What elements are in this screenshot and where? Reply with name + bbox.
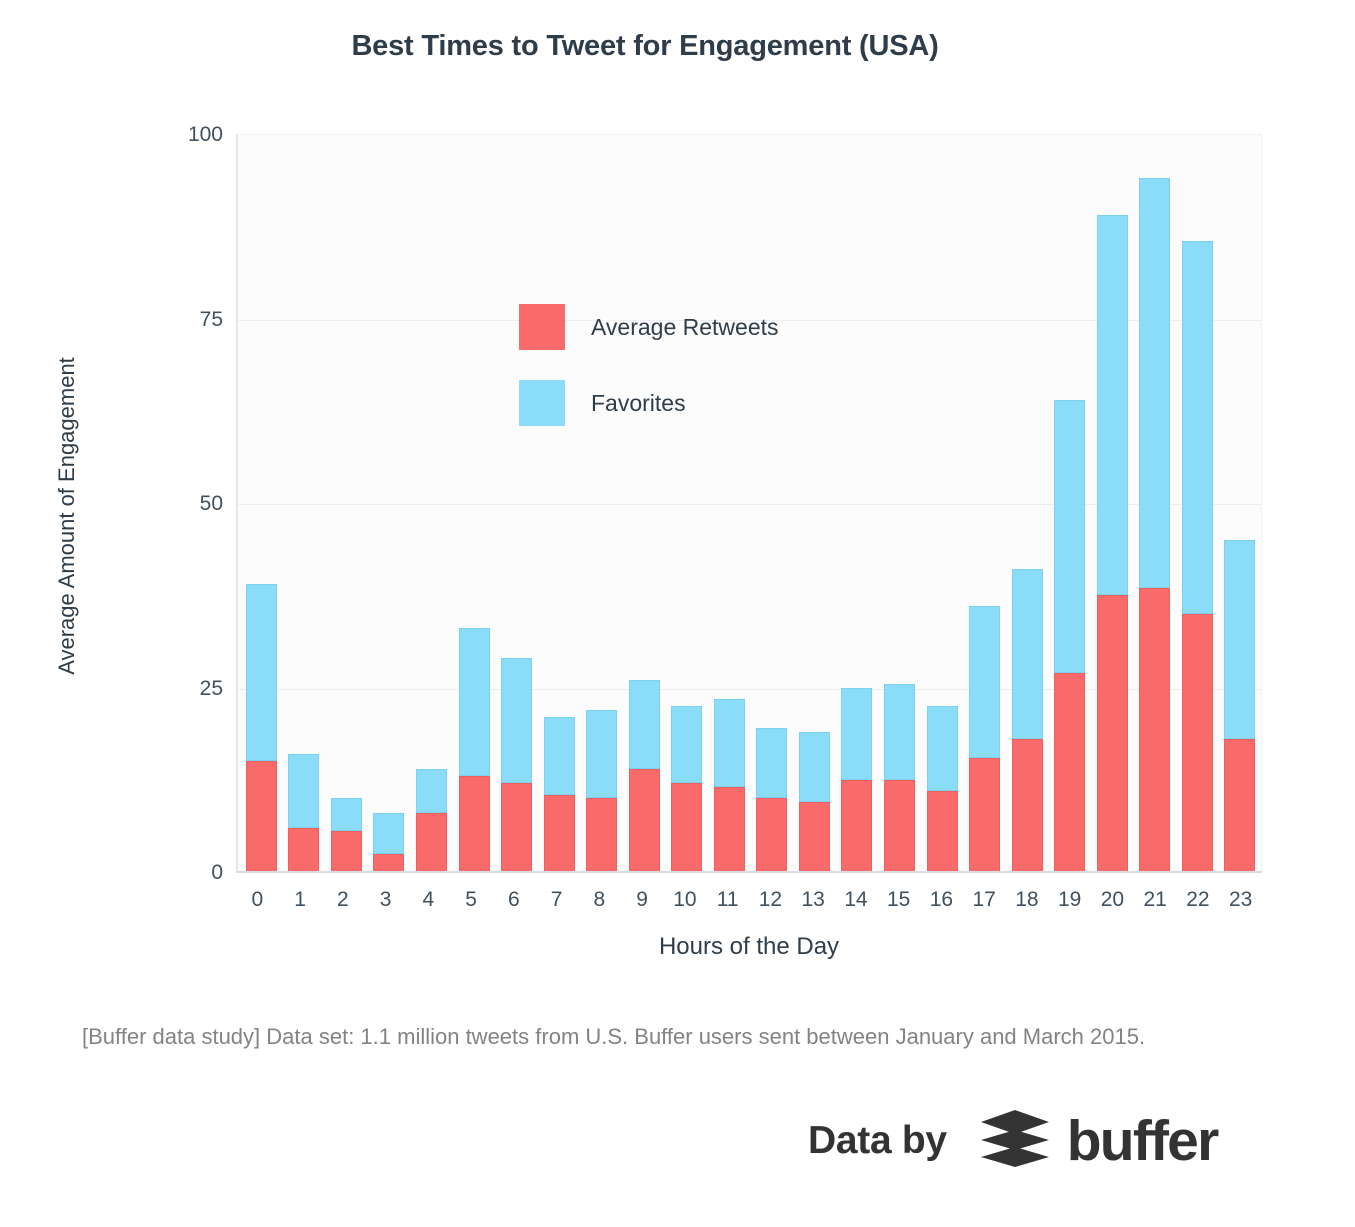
- bar-slot: [1091, 135, 1134, 872]
- x-axis-tick-label: 11: [706, 888, 749, 918]
- legend-swatch-retweets: [519, 304, 565, 350]
- bar-segment-favorites[interactable]: [373, 813, 404, 854]
- bar-segment-retweets[interactable]: [1224, 739, 1255, 872]
- bar-segment-favorites[interactable]: [416, 769, 447, 813]
- y-axis-tick-label: 100: [143, 123, 223, 147]
- bar-segment-retweets[interactable]: [756, 798, 787, 872]
- x-axis-tick-label: 22: [1177, 888, 1220, 918]
- bar-segment-retweets[interactable]: [1097, 595, 1128, 872]
- bar-slot: [793, 135, 836, 872]
- bar-segment-favorites[interactable]: [501, 658, 532, 783]
- x-axis-tick-label: 13: [792, 888, 835, 918]
- buffer-layers-icon: [981, 1110, 1049, 1175]
- buffer-wordmark: buffer: [1067, 1113, 1218, 1170]
- x-axis-line: [236, 871, 1262, 873]
- chart-legend: Average RetweetsFavorites: [519, 301, 779, 453]
- bar-segment-favorites[interactable]: [884, 684, 915, 780]
- bar-segment-retweets[interactable]: [1012, 739, 1043, 872]
- x-axis-tick-label: 5: [450, 888, 493, 918]
- bar-slot: [1133, 135, 1176, 872]
- stacked-bar[interactable]: [629, 680, 660, 872]
- x-axis-tick-label: 19: [1048, 888, 1091, 918]
- bar-slot: [623, 135, 666, 872]
- bar-slot: [878, 135, 921, 872]
- bar-segment-retweets[interactable]: [459, 776, 490, 872]
- stacked-bar[interactable]: [1139, 178, 1170, 872]
- stacked-bar[interactable]: [544, 717, 575, 872]
- bar-segment-retweets[interactable]: [331, 831, 362, 872]
- x-axis-tick-label: 6: [493, 888, 536, 918]
- x-axis-tick-label: 7: [535, 888, 578, 918]
- legend-item[interactable]: Average Retweets: [519, 301, 779, 353]
- bar-slot: [836, 135, 879, 872]
- stacked-bar[interactable]: [288, 754, 319, 872]
- stacked-bar[interactable]: [331, 798, 362, 872]
- bar-slot: [580, 135, 623, 872]
- stacked-bar[interactable]: [1012, 569, 1043, 872]
- y-axis-tick-label: 0: [143, 861, 223, 885]
- stacked-bar[interactable]: [841, 688, 872, 873]
- bar-segment-retweets[interactable]: [416, 813, 447, 872]
- bar-slot: [751, 135, 794, 872]
- bar-segment-retweets[interactable]: [671, 783, 702, 872]
- bar-segment-favorites[interactable]: [1097, 215, 1128, 595]
- stacked-bar[interactable]: [1097, 215, 1128, 872]
- bar-segment-favorites[interactable]: [969, 606, 1000, 757]
- bar-slot: [1048, 135, 1091, 872]
- stacked-bar[interactable]: [1224, 540, 1255, 872]
- data-by-label: Data by: [808, 1119, 947, 1163]
- x-axis-tick-label: 4: [407, 888, 450, 918]
- x-axis-tick-label: 2: [322, 888, 365, 918]
- bar-slot: [921, 135, 964, 872]
- bar-slot: [1219, 135, 1262, 872]
- bar-segment-favorites[interactable]: [799, 732, 830, 802]
- y-axis-title: Average Amount of Engagement: [54, 306, 80, 726]
- bar-segment-favorites[interactable]: [1224, 540, 1255, 739]
- chart-title: Best Times to Tweet for Engagement (USA): [0, 30, 1290, 63]
- stacked-bar[interactable]: [884, 684, 915, 872]
- bar-segment-favorites[interactable]: [1054, 400, 1085, 673]
- x-axis-title: Hours of the Day: [236, 933, 1262, 961]
- bar-segment-retweets[interactable]: [544, 795, 575, 872]
- bar-slot: [708, 135, 751, 872]
- bar-slot: [665, 135, 708, 872]
- stacked-bar[interactable]: [671, 706, 702, 872]
- x-axis-tick-label: 8: [578, 888, 621, 918]
- legend-swatch-favorites: [519, 380, 565, 426]
- stacked-bar[interactable]: [927, 706, 958, 872]
- bar-slot: [538, 135, 581, 872]
- bar-segment-retweets[interactable]: [586, 798, 617, 872]
- bar-segment-retweets[interactable]: [1182, 614, 1213, 872]
- bar-segment-retweets[interactable]: [841, 780, 872, 872]
- stacked-bar[interactable]: [416, 769, 447, 872]
- bar-slot: [283, 135, 326, 872]
- bar-segment-retweets[interactable]: [288, 828, 319, 872]
- bar-slot: [963, 135, 1006, 872]
- bar-slot: [240, 135, 283, 872]
- bar-segment-retweets[interactable]: [246, 761, 277, 872]
- plot-area: Average RetweetsFavorites: [236, 134, 1262, 872]
- x-axis-tick-label: 23: [1219, 888, 1262, 918]
- stacked-bar[interactable]: [501, 658, 532, 872]
- bar-segment-retweets[interactable]: [501, 783, 532, 872]
- legend-item[interactable]: Favorites: [519, 377, 779, 429]
- x-axis-tick-label: 9: [621, 888, 664, 918]
- bar-slot: [410, 135, 453, 872]
- stacked-bar[interactable]: [714, 699, 745, 872]
- bar-slot: [325, 135, 368, 872]
- bar-segment-favorites[interactable]: [246, 584, 277, 761]
- x-axis-tick-label: 17: [963, 888, 1006, 918]
- bar-segment-retweets[interactable]: [1054, 673, 1085, 872]
- bar-segment-retweets[interactable]: [714, 787, 745, 872]
- legend-item-label: Favorites: [591, 390, 686, 417]
- bar-segment-favorites[interactable]: [841, 688, 872, 780]
- bar-series-container: [240, 135, 1261, 872]
- bar-slot: [1176, 135, 1219, 872]
- stacked-bar[interactable]: [373, 813, 404, 872]
- bar-segment-favorites[interactable]: [756, 728, 787, 798]
- bar-segment-retweets[interactable]: [969, 758, 1000, 872]
- x-axis-tick-label: 16: [920, 888, 963, 918]
- bar-slot: [368, 135, 411, 872]
- x-axis-tick-label: 0: [236, 888, 279, 918]
- stacked-bar[interactable]: [246, 584, 277, 872]
- y-axis-tick-label: 75: [143, 308, 223, 332]
- x-axis-tick-label: 3: [364, 888, 407, 918]
- y-axis-tick-label: 25: [143, 677, 223, 701]
- bar-segment-retweets[interactable]: [927, 791, 958, 872]
- chart-page: Best Times to Tweet for Engagement (USA)…: [0, 0, 1355, 1227]
- stacked-bar[interactable]: [799, 732, 830, 872]
- stacked-bar[interactable]: [1054, 400, 1085, 872]
- footer-brand: Data by buffer: [808, 1107, 1217, 1175]
- x-axis-tick-label: 12: [749, 888, 792, 918]
- x-axis-tick-label: 14: [835, 888, 878, 918]
- bar-segment-favorites[interactable]: [714, 699, 745, 788]
- bar-slot: [1006, 135, 1049, 872]
- bar-segment-favorites[interactable]: [459, 628, 490, 776]
- bar-segment-favorites[interactable]: [331, 798, 362, 831]
- x-axis-tick-labels: 01234567891011121314151617181920212223: [236, 888, 1262, 918]
- bar-segment-retweets[interactable]: [799, 802, 830, 872]
- bar-segment-retweets[interactable]: [884, 780, 915, 872]
- bar-segment-favorites[interactable]: [1182, 241, 1213, 614]
- bar-segment-favorites[interactable]: [1139, 178, 1170, 588]
- x-axis-tick-label: 15: [877, 888, 920, 918]
- x-axis-tick-label: 18: [1006, 888, 1049, 918]
- bar-segment-favorites[interactable]: [1012, 569, 1043, 739]
- stacked-bar[interactable]: [459, 628, 490, 872]
- bar-segment-favorites[interactable]: [671, 706, 702, 783]
- legend-item-label: Average Retweets: [591, 314, 779, 341]
- stacked-bar[interactable]: [756, 728, 787, 872]
- source-caption: [Buffer data study] Data set: 1.1 millio…: [82, 1020, 1242, 1054]
- bar-segment-favorites[interactable]: [927, 706, 958, 791]
- bar-segment-retweets[interactable]: [629, 769, 660, 872]
- x-axis-tick-label: 10: [664, 888, 707, 918]
- bar-segment-favorites[interactable]: [629, 680, 660, 769]
- stacked-bar[interactable]: [1182, 241, 1213, 872]
- bar-segment-retweets[interactable]: [1139, 588, 1170, 872]
- bar-segment-favorites[interactable]: [586, 710, 617, 799]
- bar-segment-favorites[interactable]: [544, 717, 575, 794]
- bar-slot: [453, 135, 496, 872]
- x-axis-tick-label: 21: [1134, 888, 1177, 918]
- stacked-bar[interactable]: [969, 606, 1000, 872]
- bar-segment-favorites[interactable]: [288, 754, 319, 828]
- bar-slot: [495, 135, 538, 872]
- x-axis-tick-label: 20: [1091, 888, 1134, 918]
- x-axis-tick-label: 1: [279, 888, 322, 918]
- y-axis-tick-label: 50: [143, 492, 223, 516]
- bar-segment-retweets[interactable]: [373, 854, 404, 872]
- stacked-bar[interactable]: [586, 710, 617, 872]
